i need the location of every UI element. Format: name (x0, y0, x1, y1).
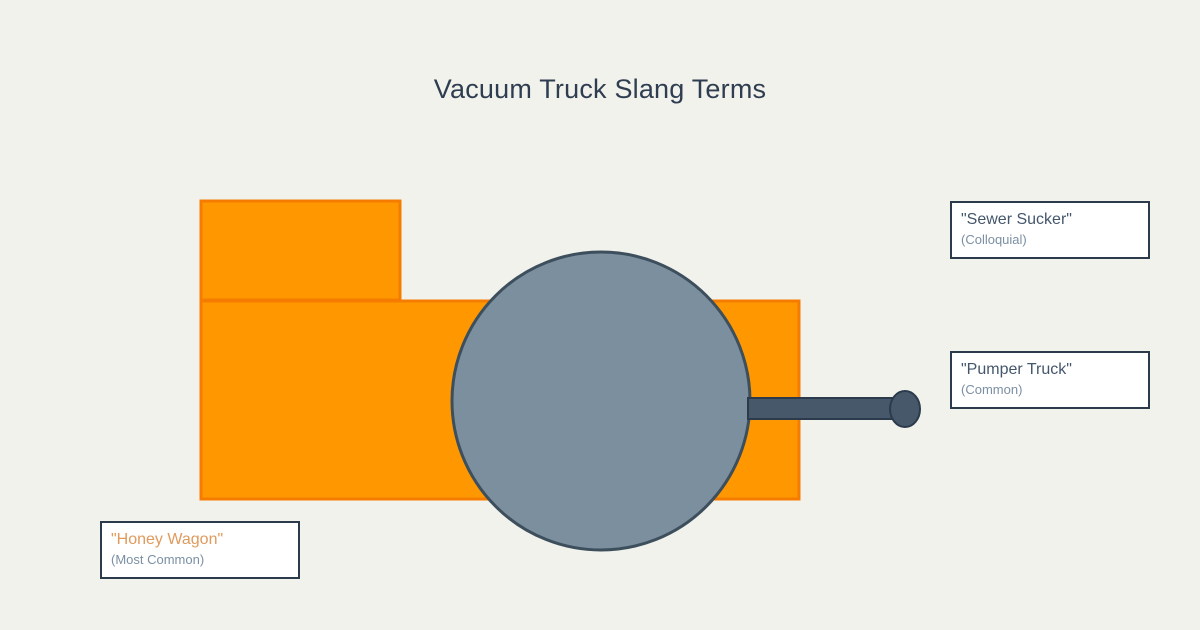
callout-term: "Sewer Sucker" (961, 210, 1139, 229)
callout-pumper-truck: "Pumper Truck" (Common) (950, 351, 1150, 409)
truck-cab-shape (201, 201, 400, 300)
callout-term: "Honey Wagon" (111, 530, 289, 549)
callout-term: "Pumper Truck" (961, 360, 1139, 379)
callout-sewer-sucker: "Sewer Sucker" (Colloquial) (950, 201, 1150, 259)
diagram-canvas: Vacuum Truck Slang Terms "Honey Wagon" (… (0, 0, 1200, 630)
callout-note: (Common) (961, 381, 1139, 398)
callout-note: (Most Common) (111, 551, 289, 568)
suction-hose-shape (748, 398, 906, 419)
vacuum-tank-shape (452, 252, 750, 550)
callout-note: (Colloquial) (961, 231, 1139, 248)
hose-nozzle-shape (890, 391, 920, 427)
callout-honey-wagon: "Honey Wagon" (Most Common) (100, 521, 300, 579)
